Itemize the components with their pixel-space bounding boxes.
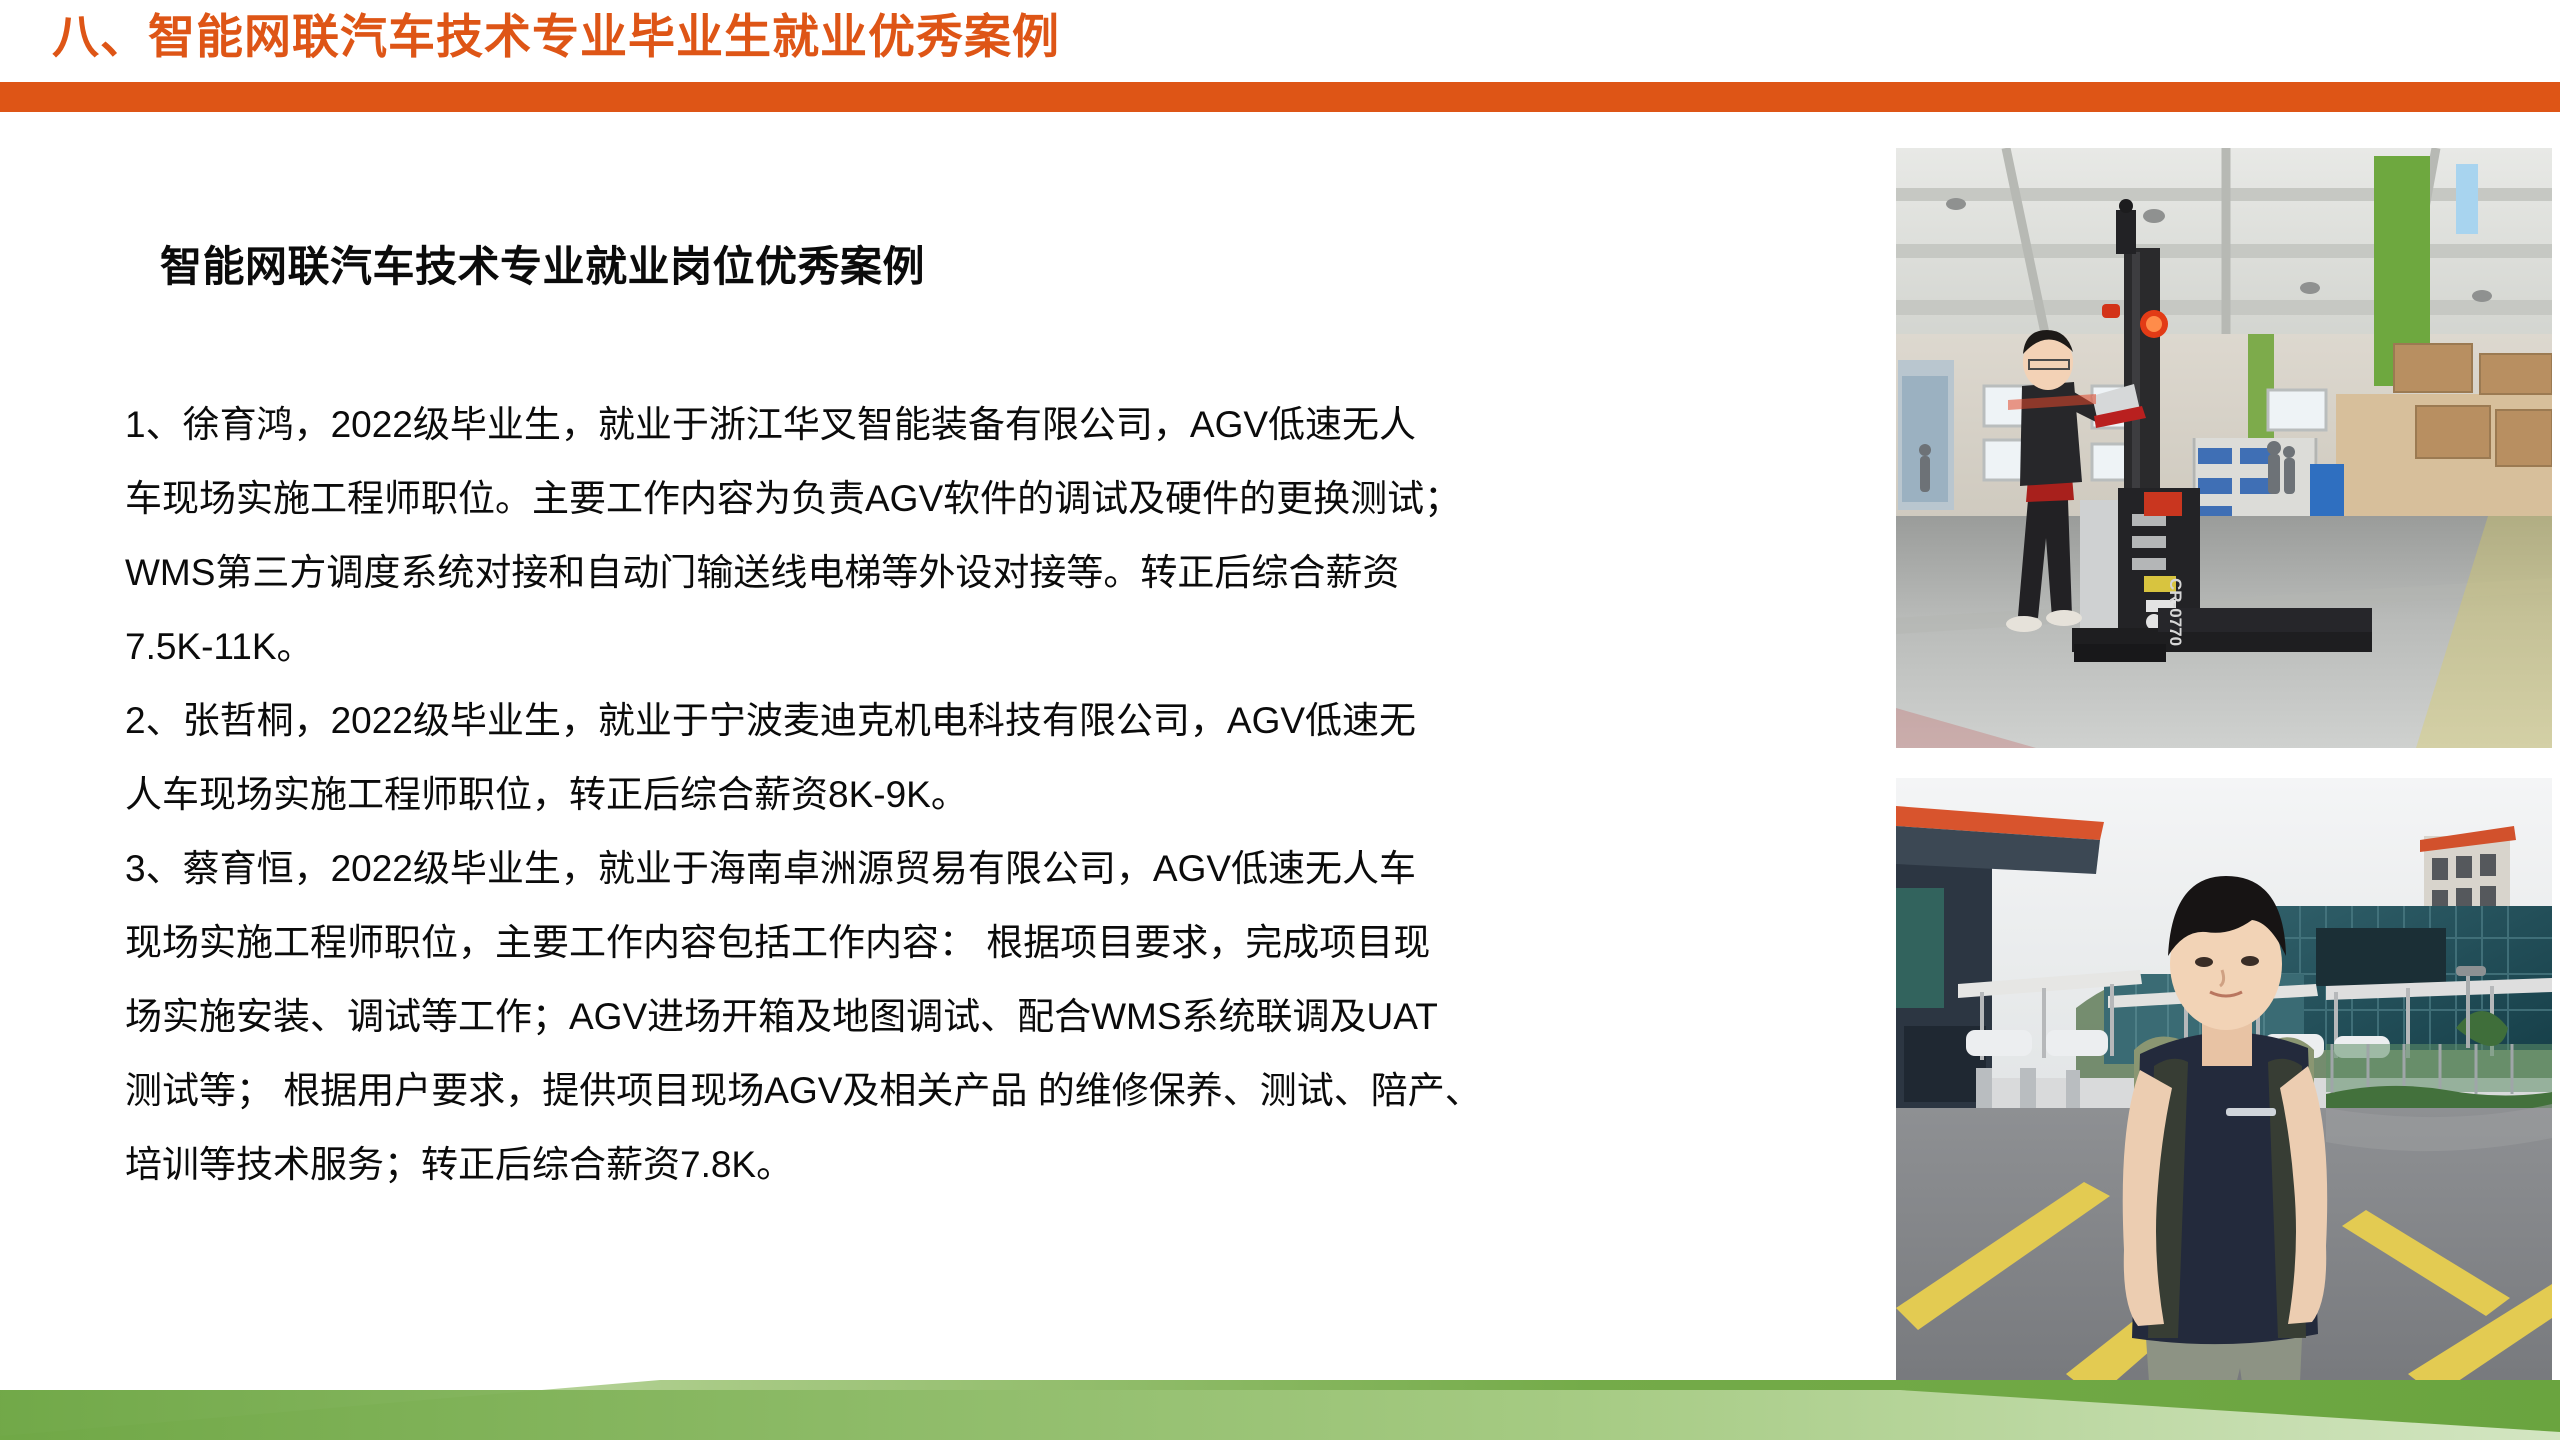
text-line: 7.5K-11K。 [125,610,1725,684]
text-line: WMS第三方调度系统对接和自动门输送线电梯等外设对接等。转正后综合薪资 [125,536,1725,610]
text-line: 1、徐育鸿，2022级毕业生，就业于浙江华叉智能装备有限公司，AGV低速无人 [125,388,1725,462]
graduate-portrait-photo [1896,778,2552,1426]
svg-text:CR-0770: CR-0770 [2166,578,2185,646]
text-line: 车现场实施工程师职位。主要工作内容为负责AGV软件的调试及硬件的更换测试； [125,462,1725,536]
agv-warehouse-photo: CR-0770 [1896,148,2552,748]
page-title: 八、智能网联汽车技术专业毕业生就业优秀案例 [52,8,1060,67]
content-heading: 智能网联汽车技术专业就业岗位优秀案例 [160,233,925,294]
text-line: 培训等技术服务；转正后综合薪资7.8K。 [125,1128,1725,1202]
slide-canvas: 八、智能网联汽车技术专业毕业生就业优秀案例 智能网联汽车技术专业就业岗位优秀案例… [0,0,2560,1440]
text-line: 3、蔡育恒，2022级毕业生，就业于海南卓洲源贸易有限公司，AGV低速无人车 [125,832,1725,906]
text-line: 人车现场实施工程师职位，转正后综合薪资8K-9K。 [125,758,1725,832]
title-divider-bar [0,82,2560,112]
text-line: 2、张哲桐，2022级毕业生，就业于宁波麦迪克机电科技有限公司，AGV低速无 [125,684,1725,758]
text-line: 场实施安装、调试等工作；AGV进场开箱及地图调试、配合WMS系统联调及UAT [125,980,1725,1054]
text-line: 测试等； 根据用户要求，提供项目现场AGV及相关产品 的维修保养、测试、陪产、 [125,1054,1725,1128]
text-line: 现场实施工程师职位，主要工作内容包括工作内容： 根据项目要求，完成项目现 [125,906,1725,980]
case-description-text: 1、徐育鸿，2022级毕业生，就业于浙江华叉智能装备有限公司，AGV低速无人 车… [125,388,1725,1202]
